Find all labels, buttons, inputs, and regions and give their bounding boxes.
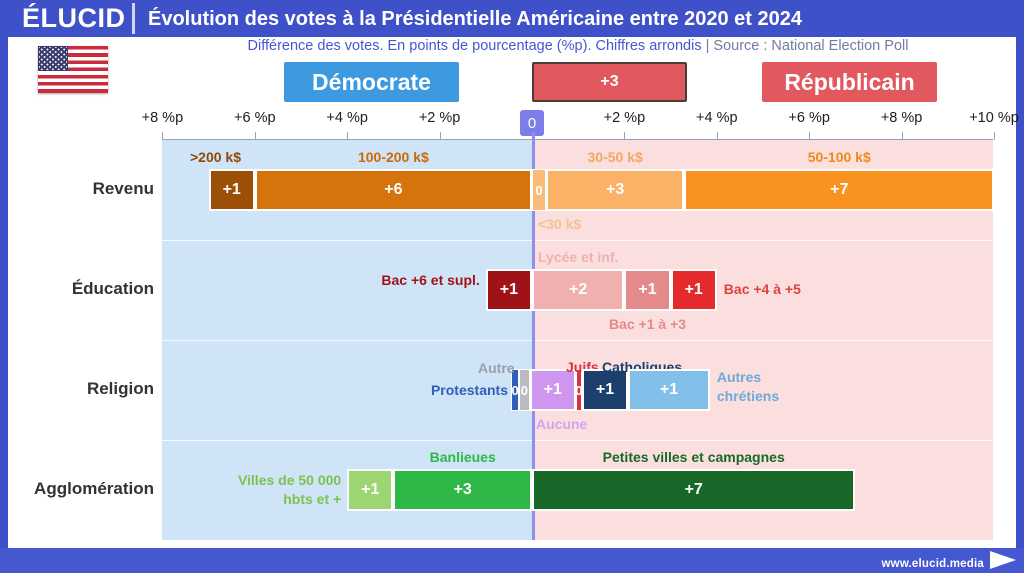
- bar-segment-value: +2: [569, 281, 587, 299]
- axis-tick-label: +2 %p: [604, 110, 646, 126]
- bar-segment-value: +3: [454, 481, 472, 499]
- bar-segment-value: +1: [685, 281, 703, 299]
- legend-overall-shift: +3: [532, 62, 687, 102]
- axis-tick-mark: [624, 132, 625, 140]
- category-label: <30 k$: [538, 216, 581, 232]
- usa-flag-icon: [38, 46, 108, 93]
- axis-tick-mark: [717, 132, 718, 140]
- axis-tick-label: +8 %p: [142, 110, 184, 126]
- bar-segment-value: +1: [544, 381, 562, 399]
- bar-segment-value: 0: [535, 183, 542, 198]
- bar-segment-value: +3: [606, 181, 624, 199]
- subtitle-main: Différence des votes. En points de pourc…: [248, 38, 702, 54]
- logo-divider: [132, 3, 135, 34]
- flag-stars: [39, 47, 67, 70]
- row-separator: [162, 240, 993, 241]
- category-label: Lycée et inf.: [538, 249, 618, 265]
- axis-tick-mark: [994, 132, 995, 140]
- legend-democrate: Démocrate: [284, 62, 459, 102]
- bar-segment: +1: [209, 169, 255, 211]
- row-separator: [162, 340, 993, 341]
- infographic-root: ÉLUCID Évolution des votes à la Présiden…: [0, 0, 1024, 573]
- brand-logo: ÉLUCID: [22, 2, 126, 35]
- source-label: Source : National Election Poll: [713, 38, 908, 54]
- axis-tick-mark: [440, 132, 441, 140]
- axis-tick-label: +6 %p: [788, 110, 830, 126]
- arrow-icon: [990, 551, 1016, 569]
- category-label: Autre: [478, 360, 515, 376]
- axis-tick-mark: [809, 132, 810, 140]
- axis-tick-mark: [162, 132, 163, 140]
- category-label: 50-100 k$: [808, 149, 871, 165]
- footer-bar: www.elucid.media: [0, 548, 1024, 573]
- header-bar: ÉLUCID Évolution des votes à la Présiden…: [0, 0, 1024, 37]
- bar-segment-value: +7: [830, 181, 848, 199]
- bar-segment: +7: [684, 169, 994, 211]
- category-label: Bac +6 et supl.: [381, 271, 479, 290]
- bar-segment: +2: [532, 269, 624, 311]
- bar-segment: +1: [347, 469, 393, 511]
- subtitle-separator: |: [702, 38, 714, 54]
- bar-segment: +1: [582, 369, 628, 411]
- category-label: 30-50 k$: [588, 149, 643, 165]
- bar-segment-value: 0: [521, 383, 528, 398]
- bar-segment-value: +6: [384, 181, 402, 199]
- axis-tick-mark: [347, 132, 348, 140]
- bar-segment-value: +1: [638, 281, 656, 299]
- legend-republicain: Républicain: [762, 62, 937, 102]
- bar-segment: +1: [624, 269, 670, 311]
- bar-segment-value: +7: [685, 481, 703, 499]
- chart-subtitle: Différence des votes. En points de pourc…: [148, 38, 1008, 54]
- category-label: Banlieues: [430, 449, 496, 465]
- bar-segment: 0: [519, 369, 530, 411]
- bar-segment: +3: [546, 169, 685, 211]
- bar-segment: +1: [530, 369, 576, 411]
- bar-segment: +1: [486, 269, 532, 311]
- category-label: Bac +1 à +3: [609, 316, 686, 332]
- row-label-religion: Religion: [8, 379, 154, 399]
- bar-segment: +6: [255, 169, 532, 211]
- row-separator: [162, 440, 993, 441]
- frame-right-edge: [1016, 0, 1024, 573]
- axis-tick-label: +4 %p: [696, 110, 738, 126]
- frame-left-edge: [0, 0, 8, 573]
- category-label: Protestants: [431, 381, 508, 400]
- bar-segment: 0: [532, 169, 546, 211]
- bar-segment: +1: [671, 269, 717, 311]
- category-label: Petites villes et campagnes: [603, 449, 785, 465]
- row-label-agglomération: Agglomération: [8, 479, 154, 499]
- bar-segment: +1: [628, 369, 710, 411]
- axis-tick-label: +8 %p: [881, 110, 923, 126]
- bar-segment-value: 0: [512, 383, 519, 398]
- bar-segment-value: +1: [500, 281, 518, 299]
- row-label-éducation: Éducation: [8, 279, 154, 299]
- x-axis: +8 %p+6 %p+4 %p+2 %p+2 %p+4 %p+6 %p+8 %p…: [0, 110, 1024, 138]
- axis-tick-label: +10 %p: [969, 110, 1019, 126]
- footer-url: www.elucid.media: [882, 558, 984, 570]
- bar-segment-value: +1: [223, 181, 241, 199]
- bar-segment: +7: [532, 469, 855, 511]
- category-label: Villes de 50 000 hbts et +: [221, 471, 341, 509]
- bar-segment-value: +1: [660, 381, 678, 399]
- axis-tick-mark: [255, 132, 256, 140]
- bar-segment-value: +1: [596, 381, 614, 399]
- axis-tick-mark: [902, 132, 903, 140]
- category-label: Autres chrétiens: [717, 368, 827, 406]
- category-label: Aucune: [536, 416, 587, 432]
- axis-tick-label: +6 %p: [234, 110, 276, 126]
- page-title: Évolution des votes à la Présidentielle …: [148, 5, 802, 33]
- axis-tick-label: +4 %p: [326, 110, 368, 126]
- bar-segment-value: +1: [361, 481, 379, 499]
- axis-tick-label: +2 %p: [419, 110, 461, 126]
- bar-segment: +3: [393, 469, 532, 511]
- row-label-revenu: Revenu: [8, 179, 154, 199]
- category-label: Bac +4 à +5: [724, 281, 801, 297]
- category-label: 100-200 k$: [358, 149, 429, 165]
- category-label: >200 k$: [190, 149, 241, 165]
